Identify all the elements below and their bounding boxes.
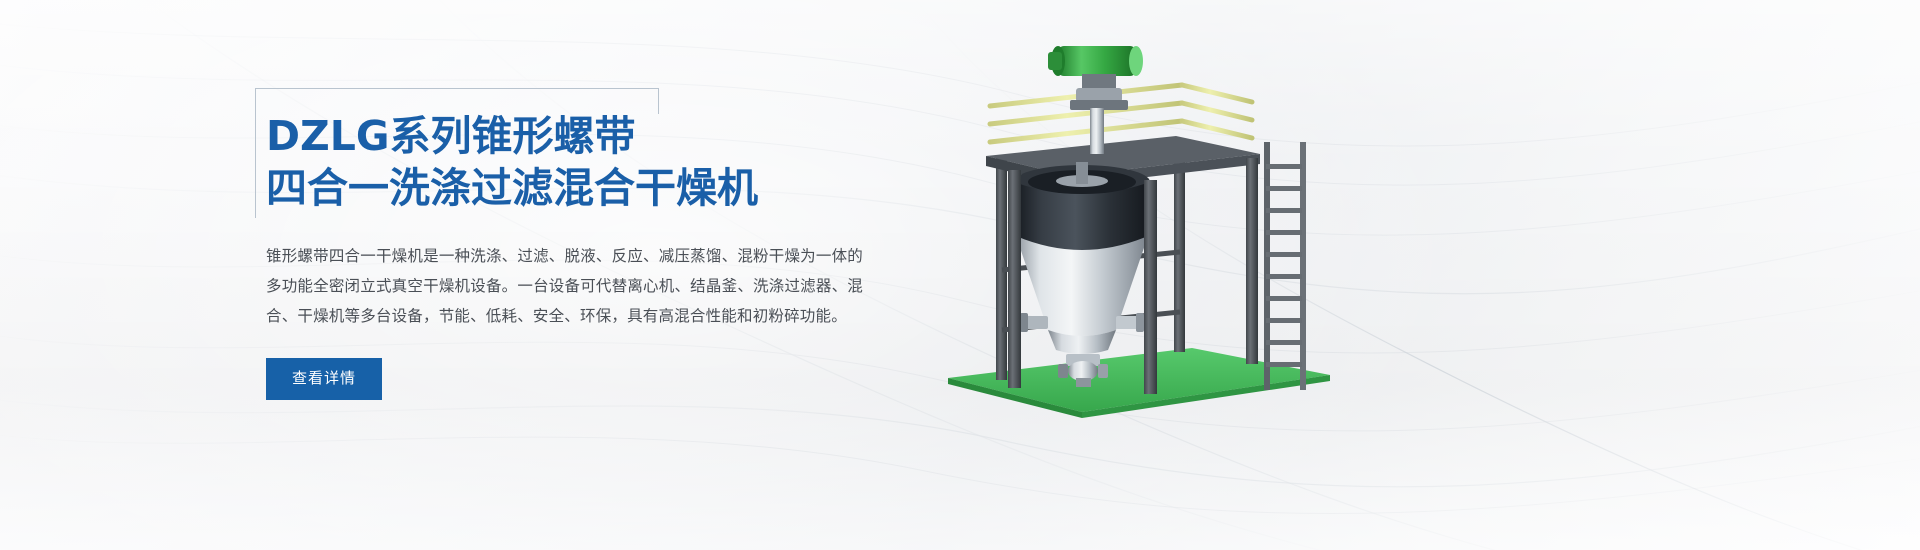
page-title: DZLG系列锥形螺带 四合一洗涤过滤混合干燥机: [255, 110, 875, 214]
hero-text-block: DZLG系列锥形螺带 四合一洗涤过滤混合干燥机 锥形螺带四合一干燥机是一种洗涤、…: [255, 88, 875, 400]
access-ladder: [1264, 142, 1306, 390]
view-details-button[interactable]: 查看详情: [266, 358, 382, 400]
product-description: 锥形螺带四合一干燥机是一种洗涤、过滤、脱液、反应、减压蒸馏、混粉干燥为一体的多功…: [255, 242, 863, 332]
drive-shaft: [1090, 108, 1104, 154]
frame-top-line: [255, 88, 659, 89]
frame-right-line: [658, 88, 659, 114]
headline-line-1: DZLG系列锥形螺带: [266, 110, 875, 162]
product-image: 利君干燥: [930, 30, 1350, 430]
conical-screw-ribbon-dryer-illustration: [930, 30, 1350, 430]
headline-line-2: 四合一洗涤过滤混合干燥机: [266, 162, 875, 214]
hero-banner: DZLG系列锥形螺带 四合一洗涤过滤混合干燥机 锥形螺带四合一干燥机是一种洗涤、…: [0, 0, 1920, 550]
headline-frame: DZLG系列锥形螺带 四合一洗涤过滤混合干燥机: [255, 88, 875, 222]
vessel-cylinder: [1014, 162, 1150, 253]
frame-left-line: [255, 88, 256, 218]
conical-vessel: [1016, 236, 1148, 354]
